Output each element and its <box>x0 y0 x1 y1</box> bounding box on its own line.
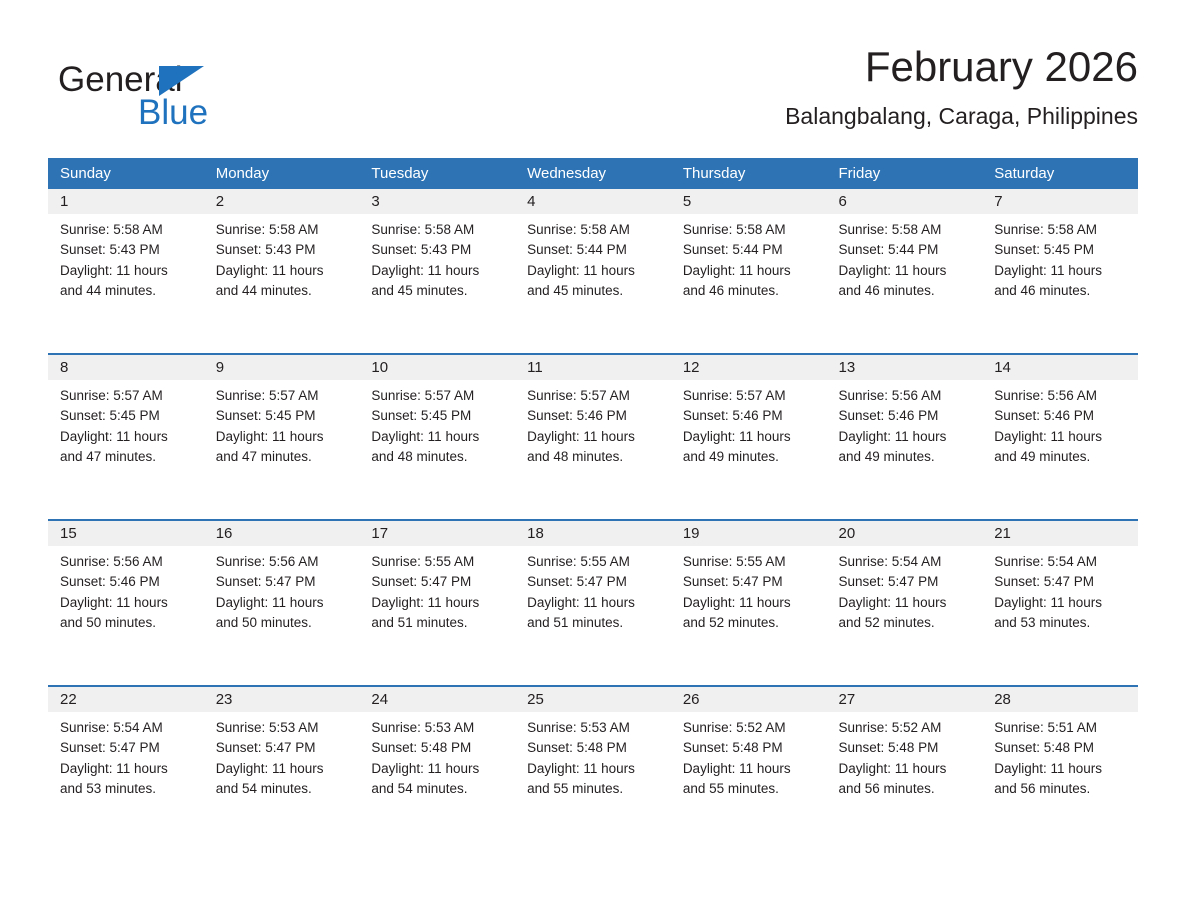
sunrise-text: Sunrise: 5:56 AM <box>60 552 194 572</box>
calendar-cell[interactable]: 5Sunrise: 5:58 AMSunset: 5:44 PMDaylight… <box>671 189 827 354</box>
sunset-text: Sunset: 5:46 PM <box>839 406 973 426</box>
day-number: 20 <box>827 521 983 546</box>
day-number: 14 <box>982 355 1138 380</box>
week-row: 22Sunrise: 5:54 AMSunset: 5:47 PMDayligh… <box>48 686 1138 851</box>
sunset-text: Sunset: 5:48 PM <box>994 738 1128 758</box>
day-number: 22 <box>48 687 204 712</box>
sunset-text: Sunset: 5:48 PM <box>527 738 661 758</box>
day-of-week-header-row: Sunday Monday Tuesday Wednesday Thursday… <box>48 158 1138 189</box>
calendar-cell[interactable]: 19Sunrise: 5:55 AMSunset: 5:47 PMDayligh… <box>671 520 827 686</box>
calendar-cell[interactable]: 8Sunrise: 5:57 AMSunset: 5:45 PMDaylight… <box>48 354 204 520</box>
day-number: 24 <box>359 687 515 712</box>
sunset-text: Sunset: 5:46 PM <box>60 572 194 592</box>
triangle-right-icon <box>159 66 204 96</box>
calendar-cell[interactable]: 10Sunrise: 5:57 AMSunset: 5:45 PMDayligh… <box>359 354 515 520</box>
calendar-body: 1Sunrise: 5:58 AMSunset: 5:43 PMDaylight… <box>48 189 1138 851</box>
sunrise-text: Sunrise: 5:58 AM <box>994 220 1128 240</box>
day-number: 8 <box>48 355 204 380</box>
daylight-text-line2: and 45 minutes. <box>527 281 661 301</box>
daylight-text-line2: and 44 minutes. <box>60 281 194 301</box>
page-title: February 2026 <box>785 40 1138 94</box>
calendar-cell[interactable]: 23Sunrise: 5:53 AMSunset: 5:47 PMDayligh… <box>204 686 360 851</box>
day-number: 28 <box>982 687 1138 712</box>
sunrise-sunset-calendar: Sunday Monday Tuesday Wednesday Thursday… <box>48 158 1138 851</box>
sunset-text: Sunset: 5:43 PM <box>216 240 350 260</box>
daylight-text-line2: and 45 minutes. <box>371 281 505 301</box>
daylight-text-line2: and 44 minutes. <box>216 281 350 301</box>
day-number: 12 <box>671 355 827 380</box>
daylight-text-line2: and 49 minutes. <box>839 447 973 467</box>
daylight-text-line1: Daylight: 11 hours <box>683 261 817 281</box>
sunrise-text: Sunrise: 5:53 AM <box>216 718 350 738</box>
daylight-text-line2: and 47 minutes. <box>60 447 194 467</box>
sunrise-text: Sunrise: 5:51 AM <box>994 718 1128 738</box>
sunrise-text: Sunrise: 5:55 AM <box>371 552 505 572</box>
daylight-text-line2: and 50 minutes. <box>60 613 194 633</box>
sunset-text: Sunset: 5:45 PM <box>60 406 194 426</box>
day-number: 2 <box>204 189 360 214</box>
calendar-cell[interactable]: 3Sunrise: 5:58 AMSunset: 5:43 PMDaylight… <box>359 189 515 354</box>
day-number: 5 <box>671 189 827 214</box>
sunset-text: Sunset: 5:47 PM <box>683 572 817 592</box>
calendar-cell[interactable]: 27Sunrise: 5:52 AMSunset: 5:48 PMDayligh… <box>827 686 983 851</box>
daylight-text-line1: Daylight: 11 hours <box>60 593 194 613</box>
daylight-text-line2: and 55 minutes. <box>683 779 817 799</box>
sunrise-text: Sunrise: 5:54 AM <box>60 718 194 738</box>
sunrise-text: Sunrise: 5:57 AM <box>683 386 817 406</box>
sunset-text: Sunset: 5:47 PM <box>839 572 973 592</box>
daylight-text-line1: Daylight: 11 hours <box>60 261 194 281</box>
daylight-text-line2: and 46 minutes. <box>994 281 1128 301</box>
daylight-text-line2: and 56 minutes. <box>839 779 973 799</box>
sunset-text: Sunset: 5:43 PM <box>60 240 194 260</box>
day-number: 25 <box>515 687 671 712</box>
daylight-text-line2: and 49 minutes. <box>994 447 1128 467</box>
calendar-cell[interactable]: 9Sunrise: 5:57 AMSunset: 5:45 PMDaylight… <box>204 354 360 520</box>
daylight-text-line1: Daylight: 11 hours <box>839 759 973 779</box>
calendar-cell[interactable]: 22Sunrise: 5:54 AMSunset: 5:47 PMDayligh… <box>48 686 204 851</box>
sunset-text: Sunset: 5:45 PM <box>994 240 1128 260</box>
day-number: 10 <box>359 355 515 380</box>
daylight-text-line1: Daylight: 11 hours <box>216 593 350 613</box>
calendar-cell[interactable]: 14Sunrise: 5:56 AMSunset: 5:46 PMDayligh… <box>982 354 1138 520</box>
sunrise-text: Sunrise: 5:57 AM <box>216 386 350 406</box>
sunset-text: Sunset: 5:47 PM <box>216 572 350 592</box>
calendar-cell[interactable]: 15Sunrise: 5:56 AMSunset: 5:46 PMDayligh… <box>48 520 204 686</box>
daylight-text-line2: and 49 minutes. <box>683 447 817 467</box>
sunrise-text: Sunrise: 5:58 AM <box>839 220 973 240</box>
sunset-text: Sunset: 5:44 PM <box>527 240 661 260</box>
calendar-cell[interactable]: 7Sunrise: 5:58 AMSunset: 5:45 PMDaylight… <box>982 189 1138 354</box>
daylight-text-line2: and 47 minutes. <box>216 447 350 467</box>
daylight-text-line1: Daylight: 11 hours <box>216 759 350 779</box>
calendar-cell[interactable]: 6Sunrise: 5:58 AMSunset: 5:44 PMDaylight… <box>827 189 983 354</box>
sunrise-text: Sunrise: 5:58 AM <box>683 220 817 240</box>
week-row: 1Sunrise: 5:58 AMSunset: 5:43 PMDaylight… <box>48 189 1138 354</box>
daylight-text-line1: Daylight: 11 hours <box>216 427 350 447</box>
daylight-text-line1: Daylight: 11 hours <box>371 759 505 779</box>
calendar-cell[interactable]: 4Sunrise: 5:58 AMSunset: 5:44 PMDaylight… <box>515 189 671 354</box>
sunset-text: Sunset: 5:47 PM <box>994 572 1128 592</box>
daylight-text-line1: Daylight: 11 hours <box>683 759 817 779</box>
daylight-text-line1: Daylight: 11 hours <box>527 759 661 779</box>
sunrise-text: Sunrise: 5:56 AM <box>994 386 1128 406</box>
calendar-cell[interactable]: 21Sunrise: 5:54 AMSunset: 5:47 PMDayligh… <box>982 520 1138 686</box>
sunrise-text: Sunrise: 5:56 AM <box>839 386 973 406</box>
sunset-text: Sunset: 5:47 PM <box>216 738 350 758</box>
dow-header-wednesday: Wednesday <box>515 158 671 189</box>
day-number: 9 <box>204 355 360 380</box>
calendar-cell[interactable]: 18Sunrise: 5:55 AMSunset: 5:47 PMDayligh… <box>515 520 671 686</box>
calendar-page: General Blue February 2026 Balangbalang,… <box>0 0 1188 918</box>
calendar-cell[interactable]: 13Sunrise: 5:56 AMSunset: 5:46 PMDayligh… <box>827 354 983 520</box>
calendar-cell[interactable]: 12Sunrise: 5:57 AMSunset: 5:46 PMDayligh… <box>671 354 827 520</box>
daylight-text-line1: Daylight: 11 hours <box>994 427 1128 447</box>
calendar-cell[interactable]: 20Sunrise: 5:54 AMSunset: 5:47 PMDayligh… <box>827 520 983 686</box>
daylight-text-line1: Daylight: 11 hours <box>60 427 194 447</box>
sunset-text: Sunset: 5:46 PM <box>994 406 1128 426</box>
day-number: 21 <box>982 521 1138 546</box>
daylight-text-line2: and 50 minutes. <box>216 613 350 633</box>
sunrise-text: Sunrise: 5:57 AM <box>60 386 194 406</box>
sunrise-text: Sunrise: 5:52 AM <box>683 718 817 738</box>
sunset-text: Sunset: 5:43 PM <box>371 240 505 260</box>
daylight-text-line1: Daylight: 11 hours <box>683 593 817 613</box>
daylight-text-line1: Daylight: 11 hours <box>994 261 1128 281</box>
daylight-text-line1: Daylight: 11 hours <box>527 427 661 447</box>
day-number: 17 <box>359 521 515 546</box>
day-number: 15 <box>48 521 204 546</box>
calendar-cell[interactable]: 24Sunrise: 5:53 AMSunset: 5:48 PMDayligh… <box>359 686 515 851</box>
daylight-text-line2: and 54 minutes. <box>371 779 505 799</box>
sunset-text: Sunset: 5:47 PM <box>60 738 194 758</box>
daylight-text-line1: Daylight: 11 hours <box>371 593 505 613</box>
daylight-text-line1: Daylight: 11 hours <box>60 759 194 779</box>
location-subtitle: Balangbalang, Caraga, Philippines <box>785 100 1138 132</box>
day-number: 11 <box>515 355 671 380</box>
day-number: 18 <box>515 521 671 546</box>
day-number: 1 <box>48 189 204 214</box>
sunrise-text: Sunrise: 5:52 AM <box>839 718 973 738</box>
sunset-text: Sunset: 5:46 PM <box>527 406 661 426</box>
calendar-cell[interactable]: 1Sunrise: 5:58 AMSunset: 5:43 PMDaylight… <box>48 189 204 354</box>
daylight-text-line1: Daylight: 11 hours <box>371 427 505 447</box>
sunset-text: Sunset: 5:46 PM <box>683 406 817 426</box>
dow-header-friday: Friday <box>827 158 983 189</box>
dow-header-thursday: Thursday <box>671 158 827 189</box>
sunset-text: Sunset: 5:48 PM <box>371 738 505 758</box>
sunrise-text: Sunrise: 5:53 AM <box>371 718 505 738</box>
daylight-text-line1: Daylight: 11 hours <box>527 593 661 613</box>
day-number: 13 <box>827 355 983 380</box>
daylight-text-line1: Daylight: 11 hours <box>371 261 505 281</box>
daylight-text-line2: and 48 minutes. <box>371 447 505 467</box>
day-number: 27 <box>827 687 983 712</box>
daylight-text-line2: and 46 minutes. <box>839 281 973 301</box>
day-number: 7 <box>982 189 1138 214</box>
calendar-cell[interactable]: 25Sunrise: 5:53 AMSunset: 5:48 PMDayligh… <box>515 686 671 851</box>
day-number: 19 <box>671 521 827 546</box>
sunrise-text: Sunrise: 5:58 AM <box>527 220 661 240</box>
daylight-text-line2: and 51 minutes. <box>527 613 661 633</box>
sunrise-text: Sunrise: 5:55 AM <box>527 552 661 572</box>
daylight-text-line2: and 53 minutes. <box>994 613 1128 633</box>
sunrise-text: Sunrise: 5:55 AM <box>683 552 817 572</box>
calendar-cell[interactable]: 16Sunrise: 5:56 AMSunset: 5:47 PMDayligh… <box>204 520 360 686</box>
calendar-cell[interactable]: 2Sunrise: 5:58 AMSunset: 5:43 PMDaylight… <box>204 189 360 354</box>
sunset-text: Sunset: 5:45 PM <box>371 406 505 426</box>
calendar-cell[interactable]: 26Sunrise: 5:52 AMSunset: 5:48 PMDayligh… <box>671 686 827 851</box>
day-number: 3 <box>359 189 515 214</box>
sunrise-text: Sunrise: 5:57 AM <box>527 386 661 406</box>
dow-header-saturday: Saturday <box>982 158 1138 189</box>
dow-header-tuesday: Tuesday <box>359 158 515 189</box>
title-block: February 2026 Balangbalang, Caraga, Phil… <box>785 40 1138 132</box>
daylight-text-line2: and 48 minutes. <box>527 447 661 467</box>
daylight-text-line2: and 56 minutes. <box>994 779 1128 799</box>
daylight-text-line1: Daylight: 11 hours <box>216 261 350 281</box>
week-row: 15Sunrise: 5:56 AMSunset: 5:46 PMDayligh… <box>48 520 1138 686</box>
sunrise-text: Sunrise: 5:53 AM <box>527 718 661 738</box>
daylight-text-line2: and 52 minutes. <box>683 613 817 633</box>
daylight-text-line2: and 54 minutes. <box>216 779 350 799</box>
generalblue-logo[interactable]: General Blue <box>58 52 288 136</box>
daylight-text-line2: and 53 minutes. <box>60 779 194 799</box>
calendar-cell[interactable]: 28Sunrise: 5:51 AMSunset: 5:48 PMDayligh… <box>982 686 1138 851</box>
daylight-text-line1: Daylight: 11 hours <box>839 261 973 281</box>
logo-text-blue: Blue <box>138 93 208 133</box>
sunset-text: Sunset: 5:44 PM <box>683 240 817 260</box>
daylight-text-line2: and 55 minutes. <box>527 779 661 799</box>
sunrise-text: Sunrise: 5:58 AM <box>216 220 350 240</box>
sunrise-text: Sunrise: 5:58 AM <box>60 220 194 240</box>
dow-header-sunday: Sunday <box>48 158 204 189</box>
day-number: 16 <box>204 521 360 546</box>
daylight-text-line1: Daylight: 11 hours <box>994 593 1128 613</box>
sunset-text: Sunset: 5:48 PM <box>839 738 973 758</box>
sunrise-text: Sunrise: 5:56 AM <box>216 552 350 572</box>
day-number: 6 <box>827 189 983 214</box>
sunset-text: Sunset: 5:45 PM <box>216 406 350 426</box>
daylight-text-line1: Daylight: 11 hours <box>839 427 973 447</box>
daylight-text-line1: Daylight: 11 hours <box>683 427 817 447</box>
daylight-text-line2: and 46 minutes. <box>683 281 817 301</box>
calendar-cell[interactable]: 17Sunrise: 5:55 AMSunset: 5:47 PMDayligh… <box>359 520 515 686</box>
dow-header-monday: Monday <box>204 158 360 189</box>
sunrise-text: Sunrise: 5:54 AM <box>994 552 1128 572</box>
daylight-text-line1: Daylight: 11 hours <box>527 261 661 281</box>
sunset-text: Sunset: 5:44 PM <box>839 240 973 260</box>
sunrise-text: Sunrise: 5:57 AM <box>371 386 505 406</box>
daylight-text-line2: and 51 minutes. <box>371 613 505 633</box>
day-number: 23 <box>204 687 360 712</box>
day-number: 4 <box>515 189 671 214</box>
daylight-text-line1: Daylight: 11 hours <box>839 593 973 613</box>
daylight-text-line1: Daylight: 11 hours <box>994 759 1128 779</box>
week-row: 8Sunrise: 5:57 AMSunset: 5:45 PMDaylight… <box>48 354 1138 520</box>
sunset-text: Sunset: 5:47 PM <box>371 572 505 592</box>
sunset-text: Sunset: 5:47 PM <box>527 572 661 592</box>
sunrise-text: Sunrise: 5:54 AM <box>839 552 973 572</box>
sunset-text: Sunset: 5:48 PM <box>683 738 817 758</box>
daylight-text-line2: and 52 minutes. <box>839 613 973 633</box>
sunrise-text: Sunrise: 5:58 AM <box>371 220 505 240</box>
page-header: General Blue February 2026 Balangbalang,… <box>48 40 1138 148</box>
day-number: 26 <box>671 687 827 712</box>
calendar-cell[interactable]: 11Sunrise: 5:57 AMSunset: 5:46 PMDayligh… <box>515 354 671 520</box>
